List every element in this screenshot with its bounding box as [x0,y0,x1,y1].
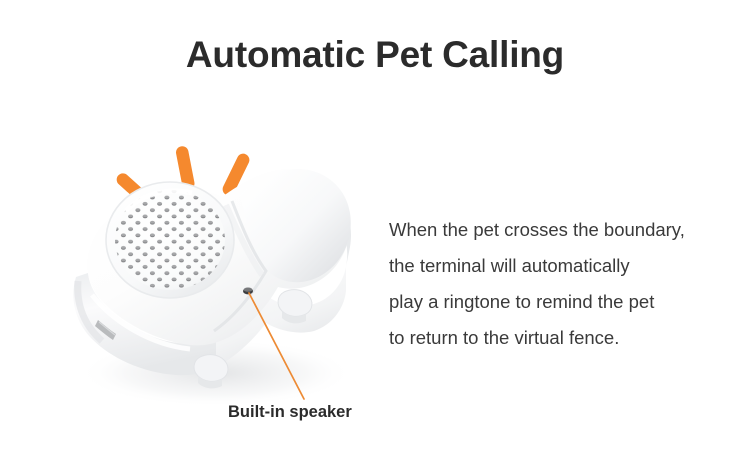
body-copy-line-2: the terminal will automatically [389,248,719,284]
callout-caption: Built-in speaker [228,403,352,422]
speaker-hole-anchor [243,287,253,294]
product-feature-slide: Automatic Pet Calling [0,0,750,475]
body-copy-line-1: When the pet crosses the boundary, [389,212,719,248]
body-copy-line-4: to return to the virtual fence. [389,320,719,356]
page-title: Automatic Pet Calling [0,34,750,76]
body-copy: When the pet crosses the boundary, the t… [389,212,719,356]
body-copy-line-3: play a ringtone to remind the pet [389,284,719,320]
product-illustration [40,125,380,415]
